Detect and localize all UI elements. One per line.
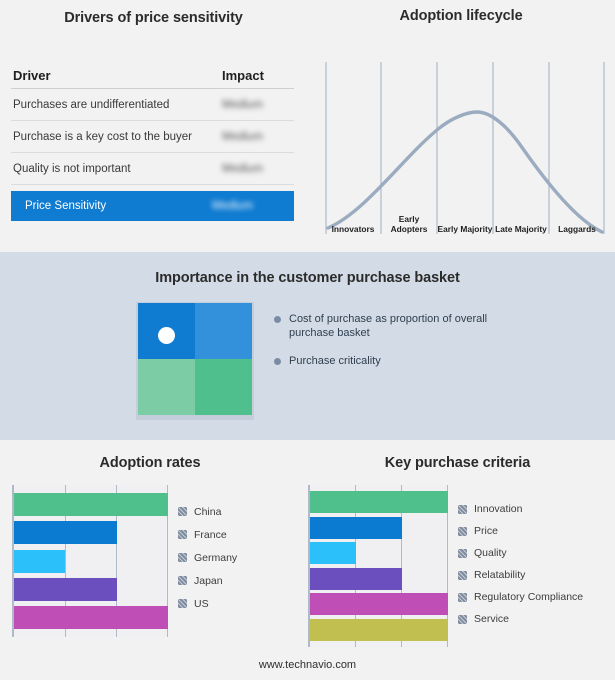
bar-slot: [14, 550, 168, 573]
legend-label: Relatability: [474, 569, 525, 581]
bar-slot: [310, 593, 448, 615]
adoption-rates-chart: China France Germany Japan US: [12, 485, 237, 637]
bar-slot: [14, 578, 168, 601]
bar-slot: [310, 542, 448, 564]
legend-label: Regulatory Compliance: [474, 591, 583, 603]
matrix-quadrant-bottom-left[interactable]: [138, 359, 195, 415]
legend-label: Germany: [194, 552, 237, 564]
legend-label: France: [194, 529, 227, 541]
legend-label: Innovation: [474, 503, 522, 515]
legend-swatch-icon: [458, 571, 467, 580]
purchase-criteria-chart: Innovation Price Quality Relatability Re…: [308, 485, 583, 647]
adoption-rates-bars: [14, 493, 168, 629]
basket-panel-title: Importance in the customer purchase bask…: [0, 270, 615, 286]
legend-swatch-icon: [458, 593, 467, 602]
driver-cell: Purchase is a key cost to the buyer: [11, 131, 222, 143]
legend-item-france[interactable]: France: [178, 523, 237, 546]
impact-cell-highlighted: Medium: [212, 200, 284, 212]
driver-cell: Quality is not important: [11, 163, 222, 175]
legend-label: Service: [474, 613, 509, 625]
driver-cell-highlighted: Price Sensitivity: [21, 200, 212, 212]
legend-item-china[interactable]: China: [178, 500, 237, 523]
legend-swatch-icon: [178, 553, 187, 562]
bar-slot: [310, 619, 448, 641]
legend-item-innovation[interactable]: Innovation: [458, 498, 583, 520]
legend-swatch-icon: [178, 576, 187, 585]
driver-cell: Purchases are undifferentiated: [11, 99, 222, 111]
bar-quality[interactable]: [310, 542, 356, 564]
bar-slot: [14, 493, 168, 516]
legend-label: Japan: [194, 575, 223, 587]
legend-item-quality[interactable]: Quality: [458, 542, 583, 564]
adoption-rates-title: Adoption rates: [0, 455, 300, 471]
bar-us[interactable]: [14, 606, 168, 629]
legend-item-label: Purchase criticality: [289, 354, 381, 368]
bullet-dot-icon: [274, 316, 281, 323]
adoption-rates-panel: Adoption rates: [0, 440, 300, 680]
legend-swatch-icon: [178, 507, 187, 516]
legend-label: US: [194, 598, 209, 610]
bar-slot: [310, 491, 448, 513]
lifecycle-label-early-adopters: Early Adopters: [381, 202, 437, 236]
drivers-table: Driver Impact Purchases are undifferenti…: [11, 62, 294, 221]
legend-item-label: Cost of purchase as proportion of overal…: [289, 312, 499, 340]
legend-swatch-icon: [458, 549, 467, 558]
drivers-panel: Drivers of price sensitivity Driver Impa…: [0, 0, 307, 252]
purchase-criteria-legend: Innovation Price Quality Relatability Re…: [448, 485, 583, 647]
legend-item: Cost of purchase as proportion of overal…: [274, 312, 594, 340]
lifecycle-panel-title: Adoption lifecycle: [307, 8, 615, 24]
top-band: Drivers of price sensitivity Driver Impa…: [0, 0, 615, 252]
lifecycle-label-late-majority: Late Majority: [493, 202, 549, 236]
legend-swatch-icon: [458, 615, 467, 624]
bar-slot: [310, 568, 448, 590]
table-header-row: Driver Impact: [11, 62, 294, 89]
table-row[interactable]: Purchases are undifferentiated Medium: [11, 89, 294, 121]
purchase-criteria-bars: [310, 491, 448, 641]
table-row[interactable]: Quality is not important Medium: [11, 153, 294, 185]
bar-slot: [14, 521, 168, 544]
footer-url[interactable]: www.technavio.com: [0, 659, 615, 671]
bar-japan[interactable]: [14, 578, 117, 601]
table-row[interactable]: Purchase is a key cost to the buyer Medi…: [11, 121, 294, 153]
lifecycle-axis-labels: Innovators Early Adopters Early Majority…: [325, 202, 605, 236]
bar-innovation[interactable]: [310, 491, 448, 513]
legend-item-price[interactable]: Price: [458, 520, 583, 542]
legend-item-germany[interactable]: Germany: [178, 546, 237, 569]
infographic-page: Drivers of price sensitivity Driver Impa…: [0, 0, 615, 680]
legend-item-relatability[interactable]: Relatability: [458, 564, 583, 586]
bar-slot: [310, 517, 448, 539]
matrix-quadrant-top-right[interactable]: [195, 303, 252, 359]
legend-swatch-icon: [178, 599, 187, 608]
lifecycle-label-innovators: Innovators: [325, 202, 381, 236]
legend-swatch-icon: [458, 505, 467, 514]
impact-cell: Medium: [222, 99, 294, 111]
bar-service[interactable]: [310, 619, 448, 641]
bar-germany[interactable]: [14, 550, 65, 573]
bar-china[interactable]: [14, 493, 168, 516]
matrix-quadrant-bottom-right[interactable]: [195, 359, 252, 415]
legend-item-service[interactable]: Service: [458, 608, 583, 630]
lifecycle-panel: Adoption lifecycle Innovators Ea: [307, 0, 615, 252]
legend-label: Quality: [474, 547, 507, 559]
impact-cell: Medium: [222, 131, 294, 143]
bar-relatability[interactable]: [310, 568, 402, 590]
lifecycle-label-early-majority: Early Majority: [437, 202, 493, 236]
lifecycle-label-laggards: Laggards: [549, 202, 605, 236]
adoption-rates-plot: [12, 485, 168, 637]
bullet-dot-icon: [274, 358, 281, 365]
purchase-basket-matrix[interactable]: [138, 303, 252, 415]
legend-item: Purchase criticality: [274, 354, 594, 368]
purchase-criteria-panel: Key purchase criteria: [300, 440, 615, 680]
adoption-rates-legend: China France Germany Japan US: [168, 485, 237, 637]
legend-item-japan[interactable]: Japan: [178, 569, 237, 592]
bar-slot: [14, 606, 168, 629]
bar-france[interactable]: [14, 521, 117, 544]
legend-swatch-icon: [178, 530, 187, 539]
legend-item-us[interactable]: US: [178, 592, 237, 615]
column-header-impact: Impact: [222, 68, 294, 83]
basket-legend: Cost of purchase as proportion of overal…: [274, 312, 594, 382]
legend-swatch-icon: [458, 527, 467, 536]
drivers-panel-title: Drivers of price sensitivity: [0, 10, 307, 26]
table-row-highlighted[interactable]: Price Sensitivity Medium: [11, 191, 294, 221]
legend-label: China: [194, 506, 221, 518]
bar-price[interactable]: [310, 517, 402, 539]
legend-label: Price: [474, 525, 498, 537]
matrix-position-marker-icon: [158, 327, 175, 344]
purchase-criteria-plot: [308, 485, 448, 647]
legend-item-regulatory-compliance[interactable]: Regulatory Compliance: [458, 586, 583, 608]
bar-regulatory-compliance[interactable]: [310, 593, 448, 615]
impact-cell: Medium: [222, 163, 294, 175]
column-header-driver: Driver: [11, 68, 222, 83]
purchase-criteria-title: Key purchase criteria: [300, 455, 615, 471]
